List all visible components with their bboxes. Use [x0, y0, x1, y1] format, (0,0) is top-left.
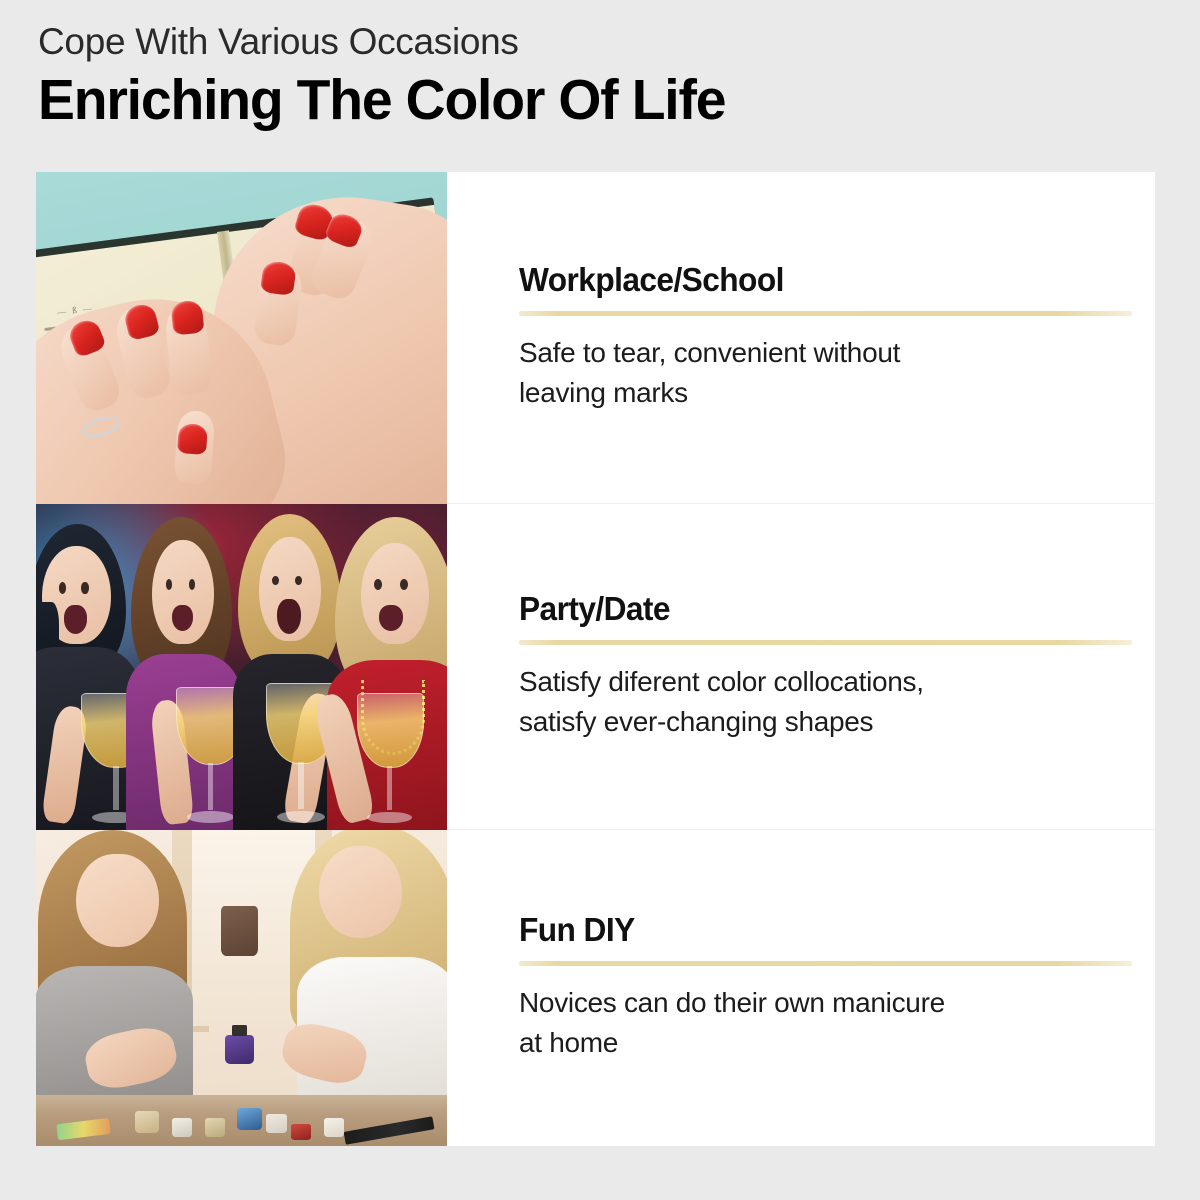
book-photo-illustration: — ß — PARTIE II Généralités	[36, 172, 447, 504]
feature-body-party: Party/Date Satisfy diferent color colloc…	[447, 504, 1190, 830]
feature-body-diy: Fun DIY Novices can do their own manicur…	[447, 830, 1190, 1146]
thumbnail-party	[36, 504, 447, 830]
thumbnail-diy	[36, 830, 447, 1146]
feature-title-workplace: Workplace/School	[519, 263, 1107, 298]
feature-description-workplace: Safe to tear, convenient without leaving…	[519, 333, 1079, 413]
page-header: Cope With Various Occasions Enriching Th…	[38, 22, 1158, 133]
feature-body-workplace: Workplace/School Safe to tear, convenien…	[447, 172, 1190, 504]
feature-title-diy: Fun DIY	[519, 913, 1107, 948]
diy-photo-illustration	[36, 830, 447, 1146]
accent-rule	[519, 961, 1132, 966]
feature-title-party: Party/Date	[519, 592, 1107, 627]
accent-rule	[519, 640, 1132, 645]
party-photo-illustration	[36, 504, 447, 830]
promo-page: Cope With Various Occasions Enriching Th…	[0, 0, 1200, 1200]
feature-card: — ß — PARTIE II Généralités	[36, 172, 1155, 1146]
feature-row-party: Party/Date Satisfy diferent color colloc…	[36, 504, 1155, 830]
feature-row-diy: Fun DIY Novices can do their own manicur…	[36, 830, 1155, 1146]
eyebrow-text: Cope With Various Occasions	[38, 22, 1158, 62]
page-title: Enriching The Color Of Life	[38, 69, 1124, 133]
accent-rule	[519, 311, 1132, 316]
feature-description-diy: Novices can do their own manicure at hom…	[519, 983, 1079, 1063]
feature-description-party: Satisfy diferent color collocations, sat…	[519, 662, 1079, 742]
feature-row-workplace: — ß — PARTIE II Généralités	[36, 172, 1155, 504]
thumbnail-workplace: — ß — PARTIE II Généralités	[36, 172, 447, 504]
